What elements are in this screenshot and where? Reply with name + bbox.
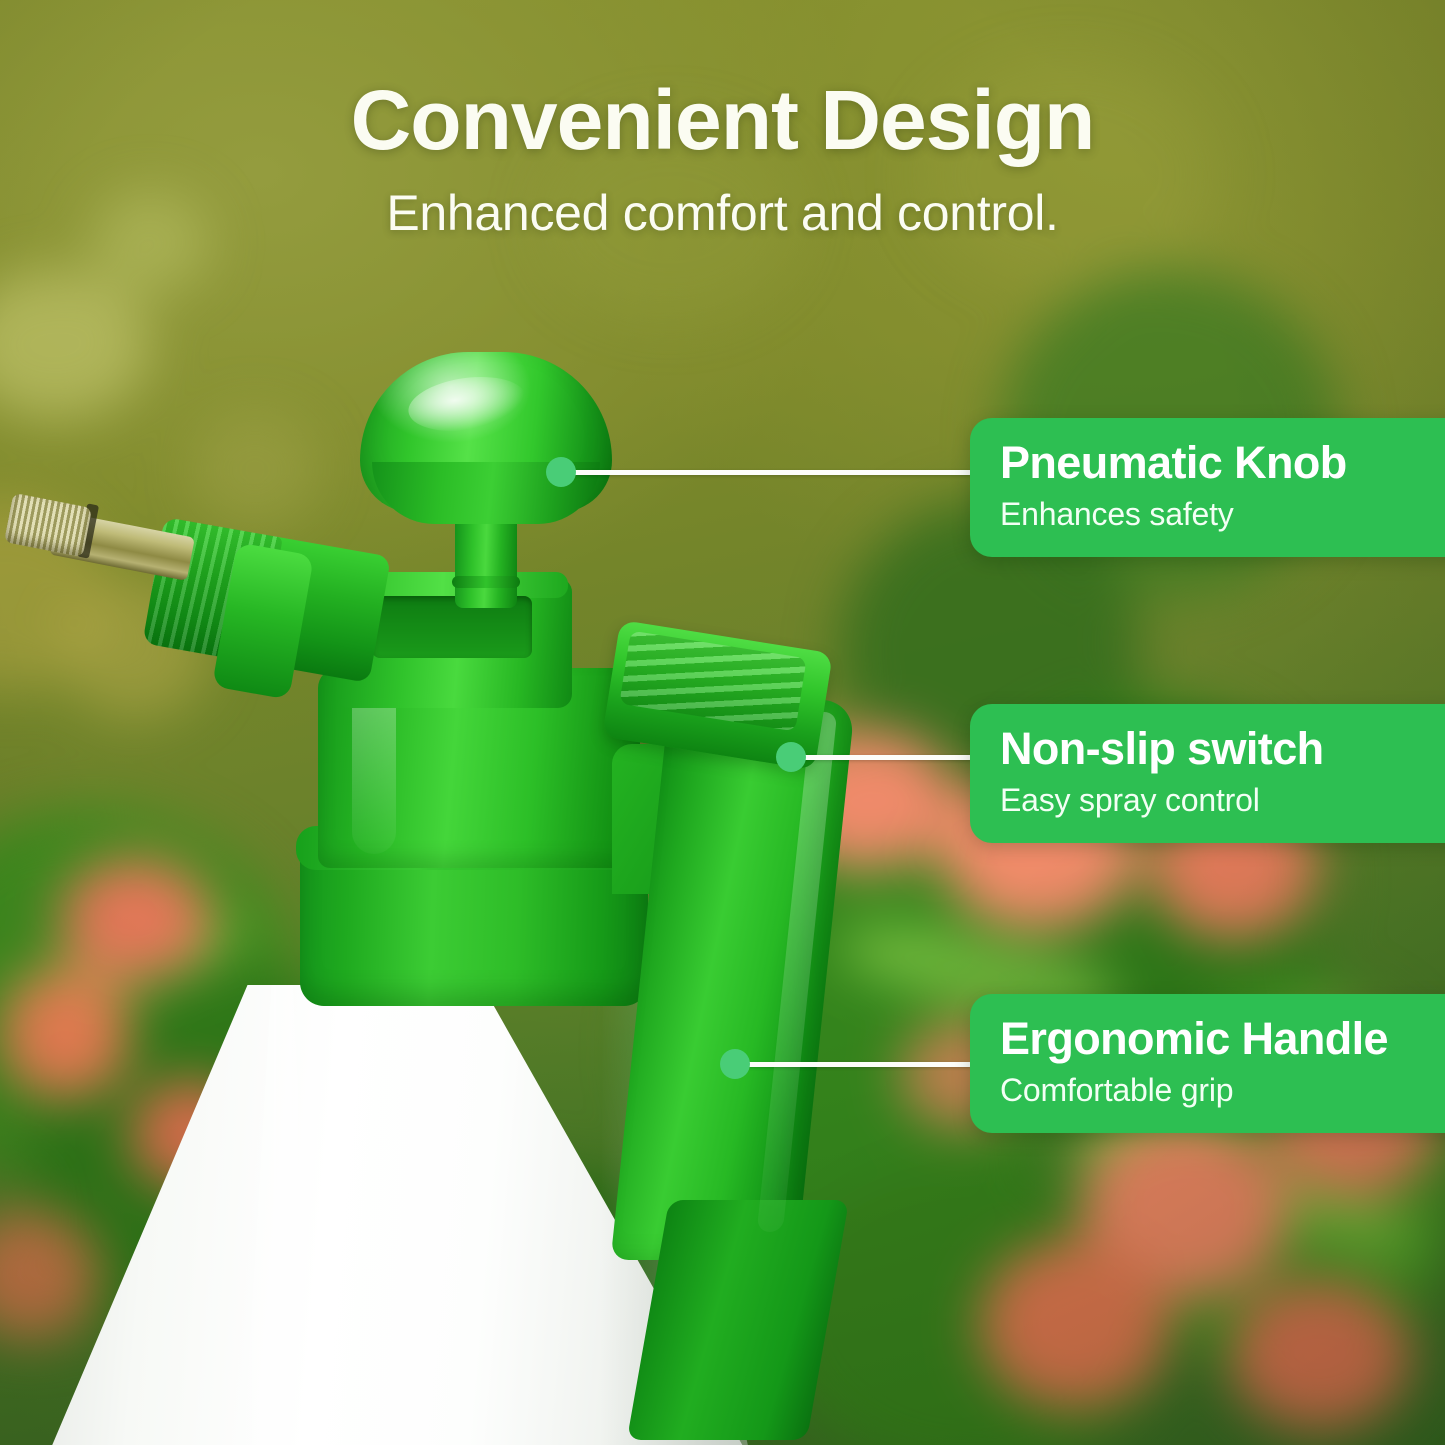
pump-midbody-highlight: [352, 686, 396, 854]
leader-line-pneumatic-knob: [560, 470, 972, 475]
leader-line-ergonomic-handle: [734, 1062, 972, 1067]
infographic-canvas: Convenient Design Enhanced comfort and c…: [0, 0, 1445, 1445]
callout-subtitle: Comfortable grip: [1000, 1072, 1445, 1109]
callout-title: Non-slip switch: [1000, 726, 1445, 772]
anchor-dot-non-slip-switch: [776, 742, 806, 772]
anchor-dot-ergonomic-handle: [720, 1049, 750, 1079]
callout-subtitle: Easy spray control: [1000, 782, 1445, 819]
callout-card-pneumatic-knob: Pneumatic Knob Enhances safety: [970, 418, 1445, 557]
callout-subtitle: Enhances safety: [1000, 496, 1445, 533]
callout-title: Pneumatic Knob: [1000, 440, 1445, 486]
anchor-dot-pneumatic-knob: [546, 457, 576, 487]
brass-nozzle-tip: [4, 493, 92, 557]
callout-card-non-slip-switch: Non-slip switch Easy spray control: [970, 704, 1445, 843]
pump-shaft-ring: [452, 576, 520, 588]
callout-card-ergonomic-handle: Ergonomic Handle Comfortable grip: [970, 994, 1445, 1133]
leader-line-non-slip-switch: [790, 755, 972, 760]
callout-title: Ergonomic Handle: [1000, 1016, 1445, 1062]
